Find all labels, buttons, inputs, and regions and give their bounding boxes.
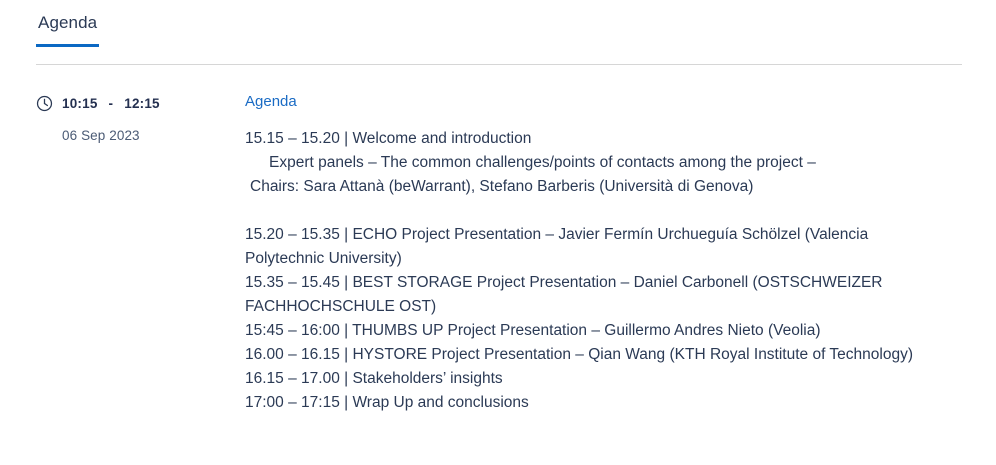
agenda-line: 15.15 – 15.20 | Welcome and introduction bbox=[245, 127, 945, 151]
header-divider bbox=[36, 64, 962, 65]
agenda-line: 16.15 – 17.00 | Stakeholders’ insights bbox=[245, 367, 945, 391]
session-body: Agenda 15.15 – 15.20 | Welcome and intro… bbox=[245, 92, 945, 415]
agenda-line: 17:00 – 17:15 | Wrap Up and conclusions bbox=[245, 391, 945, 415]
agenda-line: 15.35 – 15.45 | BEST STORAGE Project Pre… bbox=[245, 271, 945, 319]
session-time-separator: - bbox=[107, 96, 116, 111]
session-end-time: 12:15 bbox=[124, 96, 160, 111]
clock-icon bbox=[36, 95, 53, 112]
session-date: 06 Sep 2023 bbox=[62, 128, 226, 143]
agenda-line: Expert panels – The common challenges/po… bbox=[245, 151, 945, 175]
session-meta: 10:15 - 12:15 06 Sep 2023 bbox=[36, 92, 226, 143]
session-time-row: 10:15 - 12:15 bbox=[36, 92, 226, 114]
agenda-line: 15.20 – 15.35 | ECHO Project Presentatio… bbox=[245, 223, 945, 271]
agenda-line: Chairs: Sara Attanà (beWarrant), Stefano… bbox=[245, 175, 945, 199]
agenda-line-spacer bbox=[245, 199, 945, 223]
agenda-line-list: 15.15 – 15.20 | Welcome and introduction… bbox=[245, 127, 945, 415]
tab-agenda[interactable]: Agenda bbox=[36, 12, 99, 47]
agenda-line: 16.00 – 16.15 | HYSTORE Project Presenta… bbox=[245, 343, 945, 367]
agenda-link[interactable]: Agenda bbox=[245, 92, 297, 112]
tab-bar: Agenda bbox=[36, 12, 99, 47]
agenda-line: 15:45 – 16:00 | THUMBS UP Project Presen… bbox=[245, 319, 945, 343]
session-start-time: 10:15 bbox=[62, 96, 98, 111]
